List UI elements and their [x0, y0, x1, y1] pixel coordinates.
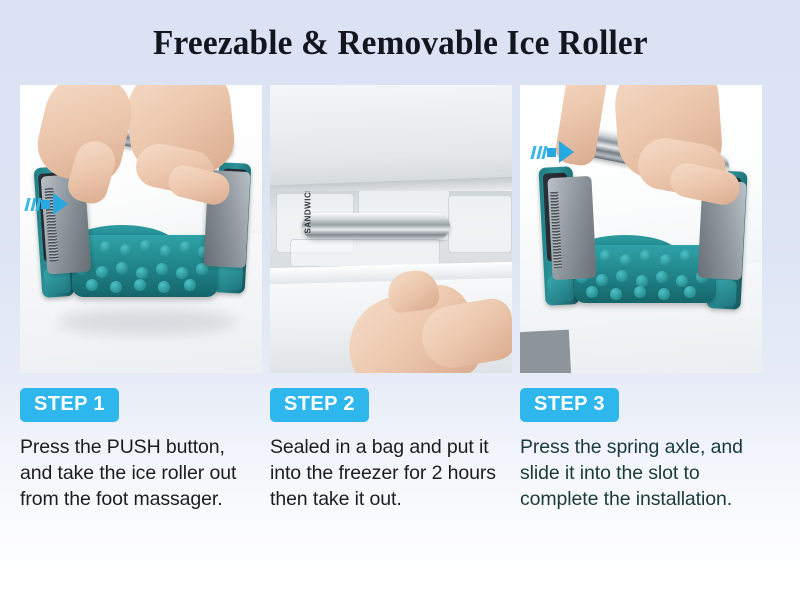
photo-row: SANDWICH [20, 85, 788, 373]
motion-lines [26, 198, 40, 211]
step-3-badge: STEP 3 [520, 388, 619, 422]
surface-shadow-corner [520, 330, 571, 373]
teal-spiky-roller [72, 235, 218, 297]
freezer-cavity: SANDWICH [270, 191, 512, 269]
arrow-head [559, 141, 574, 163]
chrome-ice-roller-in-bag [302, 213, 450, 239]
step-3-text: Press the spring axle, and slide it into… [520, 435, 762, 513]
ice-bag [448, 195, 512, 253]
spring-axle-arrow-icon [532, 141, 574, 163]
title-bar: Freezable & Removable Ice Roller [0, 0, 800, 85]
ice-bag [290, 239, 440, 267]
step-1-badge: STEP 1 [20, 388, 119, 422]
step-2-text: Sealed in a bag and put it into the free… [270, 435, 512, 513]
steps-row: STEP 1 Press the PUSH button, and take t… [20, 388, 788, 588]
push-button-arrow-icon [26, 193, 68, 215]
step-2-badge: STEP 2 [270, 388, 369, 422]
slot-ribs [550, 192, 562, 268]
step-3-photo [520, 85, 762, 373]
step-2-column: STEP 2 Sealed in a bag and put it into t… [270, 388, 512, 588]
arrow-stem [41, 200, 50, 209]
page-title: Freezable & Removable Ice Roller [153, 23, 648, 63]
arrow-head [53, 193, 68, 215]
infographic-page: Freezable & Removable Ice Roller [0, 0, 800, 600]
motion-lines [532, 146, 546, 159]
step-2-photo: SANDWICH [270, 85, 512, 373]
product-shadow [58, 309, 236, 335]
step-1-text: Press the PUSH button, and take the ice … [20, 435, 262, 513]
step-1-column: STEP 1 Press the PUSH button, and take t… [20, 388, 262, 588]
step-1-photo [20, 85, 262, 373]
arrow-stem [547, 148, 556, 157]
step-3-column: STEP 3 Press the spring axle, and slide … [520, 388, 762, 588]
massager-side-plate-left [547, 176, 596, 280]
bag-label: SANDWICH [304, 191, 313, 234]
